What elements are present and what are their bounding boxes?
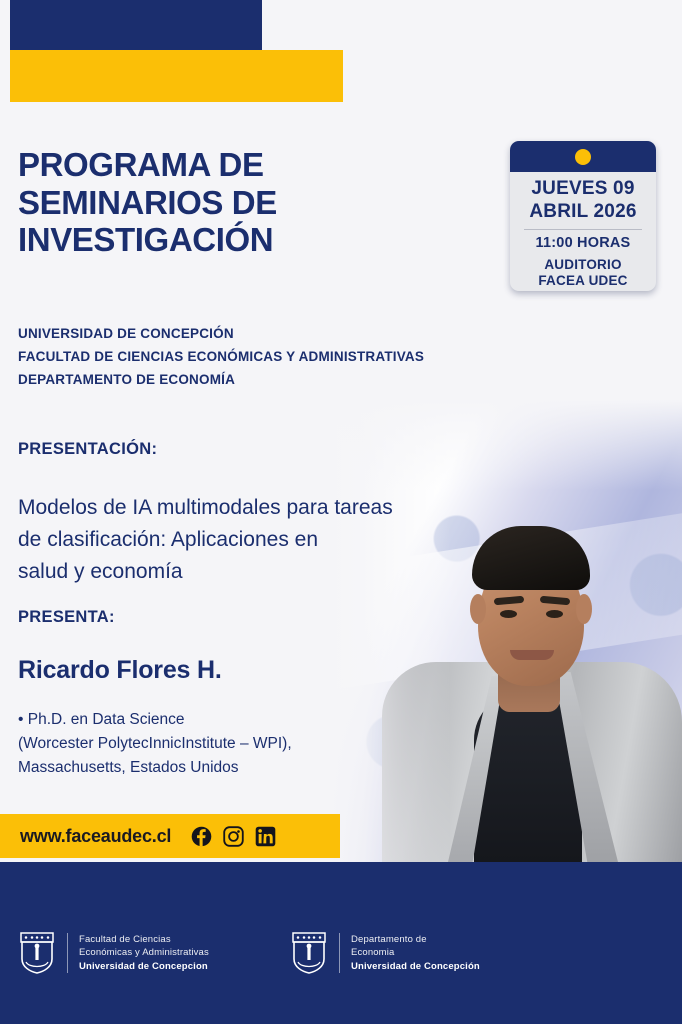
date-badge: JUEVES 09 ABRIL 2026 11:00 HORAS AUDITOR… (510, 141, 656, 291)
credential-line-1: • Ph.D. en Data Science (18, 708, 398, 732)
speaker-name: Ricardo Flores H. (18, 656, 222, 685)
footer-logo-line-3: Universidad de Concepcion (79, 961, 208, 972)
title-line-3: INVESTIGACIÓN (18, 221, 378, 259)
badge-place-line-1: AUDITORIO (510, 257, 656, 273)
header-navy-bar (10, 0, 262, 50)
footer-logo-line-1: Facultad de Ciencias (79, 934, 171, 945)
footer-logo-line-3: Universidad de Concepción (351, 961, 480, 972)
udec-shield-icon (18, 931, 56, 975)
logo-divider (339, 933, 340, 973)
title-line-1: PROGRAMA DE (18, 146, 378, 184)
organization-department: DEPARTAMENTO DE ECONOMÍA (18, 368, 518, 391)
footer-logo-text: Departamento de Economia Universidad de … (351, 933, 480, 973)
talk-title-line-3: salud y economía (18, 556, 448, 588)
talk-title-line-1: Modelos de IA multimodales para tareas (18, 492, 448, 524)
presentation-label: PRESENTACIÓN: (18, 440, 157, 459)
badge-divider (524, 229, 642, 230)
badge-date-day: JUEVES 09 (510, 177, 656, 200)
page-title: PROGRAMA DE SEMINARIOS DE INVESTIGACIÓN (18, 146, 378, 259)
footer-logo-text: Facultad de Ciencias Económicas y Admini… (79, 933, 209, 973)
speaker-photo (330, 400, 682, 862)
footer-logo-line-2: Económicas y Administrativas (79, 947, 209, 958)
credential-line-3: Massachusetts, Estados Unidos (18, 756, 398, 780)
header-yellow-bar (10, 50, 343, 102)
url-bar: www.faceaudec.cl (0, 814, 340, 858)
talk-title: Modelos de IA multimodales para tareas d… (18, 492, 448, 588)
photo-top-fade (330, 400, 682, 490)
facebook-icon[interactable] (191, 826, 212, 847)
website-url[interactable]: www.faceaudec.cl (20, 826, 171, 847)
badge-place-line-2: FACEA UDEC (510, 273, 656, 289)
title-line-2: SEMINARIOS DE (18, 184, 378, 222)
organization-university: UNIVERSIDAD DE CONCEPCIÓN (18, 322, 518, 345)
badge-place: AUDITORIO FACEA UDEC (510, 257, 656, 290)
footer-logo-line-2: Economia (351, 947, 394, 958)
badge-date: JUEVES 09 ABRIL 2026 (510, 177, 656, 223)
linkedin-icon[interactable] (255, 826, 276, 847)
footer-logo-facultad: Facultad de Ciencias Económicas y Admini… (18, 931, 209, 975)
logo-divider (67, 933, 68, 973)
speaker-label: PRESENTA: (18, 608, 115, 627)
credential-line-2: (Worcester PolytecInnicInstitute – WPI), (18, 732, 398, 756)
talk-title-line-2: de clasificación: Aplicaciones en (18, 524, 448, 556)
udec-shield-icon (290, 931, 328, 975)
seminar-poster: PROGRAMA DE SEMINARIOS DE INVESTIGACIÓN … (0, 0, 682, 1024)
organization-faculty: FACULTAD DE CIENCIAS ECONÓMICAS Y ADMINI… (18, 345, 518, 368)
badge-dot-icon (575, 149, 591, 165)
badge-time: 11:00 HORAS (510, 235, 656, 251)
organization-block: UNIVERSIDAD DE CONCEPCIÓN FACULTAD DE CI… (18, 322, 518, 392)
social-links (191, 826, 276, 847)
speaker-credentials: • Ph.D. en Data Science (Worcester Polyt… (18, 708, 398, 781)
badge-date-month: ABRIL 2026 (510, 200, 656, 223)
instagram-icon[interactable] (223, 826, 244, 847)
footer-logo-line-1: Departamento de (351, 934, 427, 945)
footer-logo-departamento: Departamento de Economia Universidad de … (290, 931, 480, 975)
